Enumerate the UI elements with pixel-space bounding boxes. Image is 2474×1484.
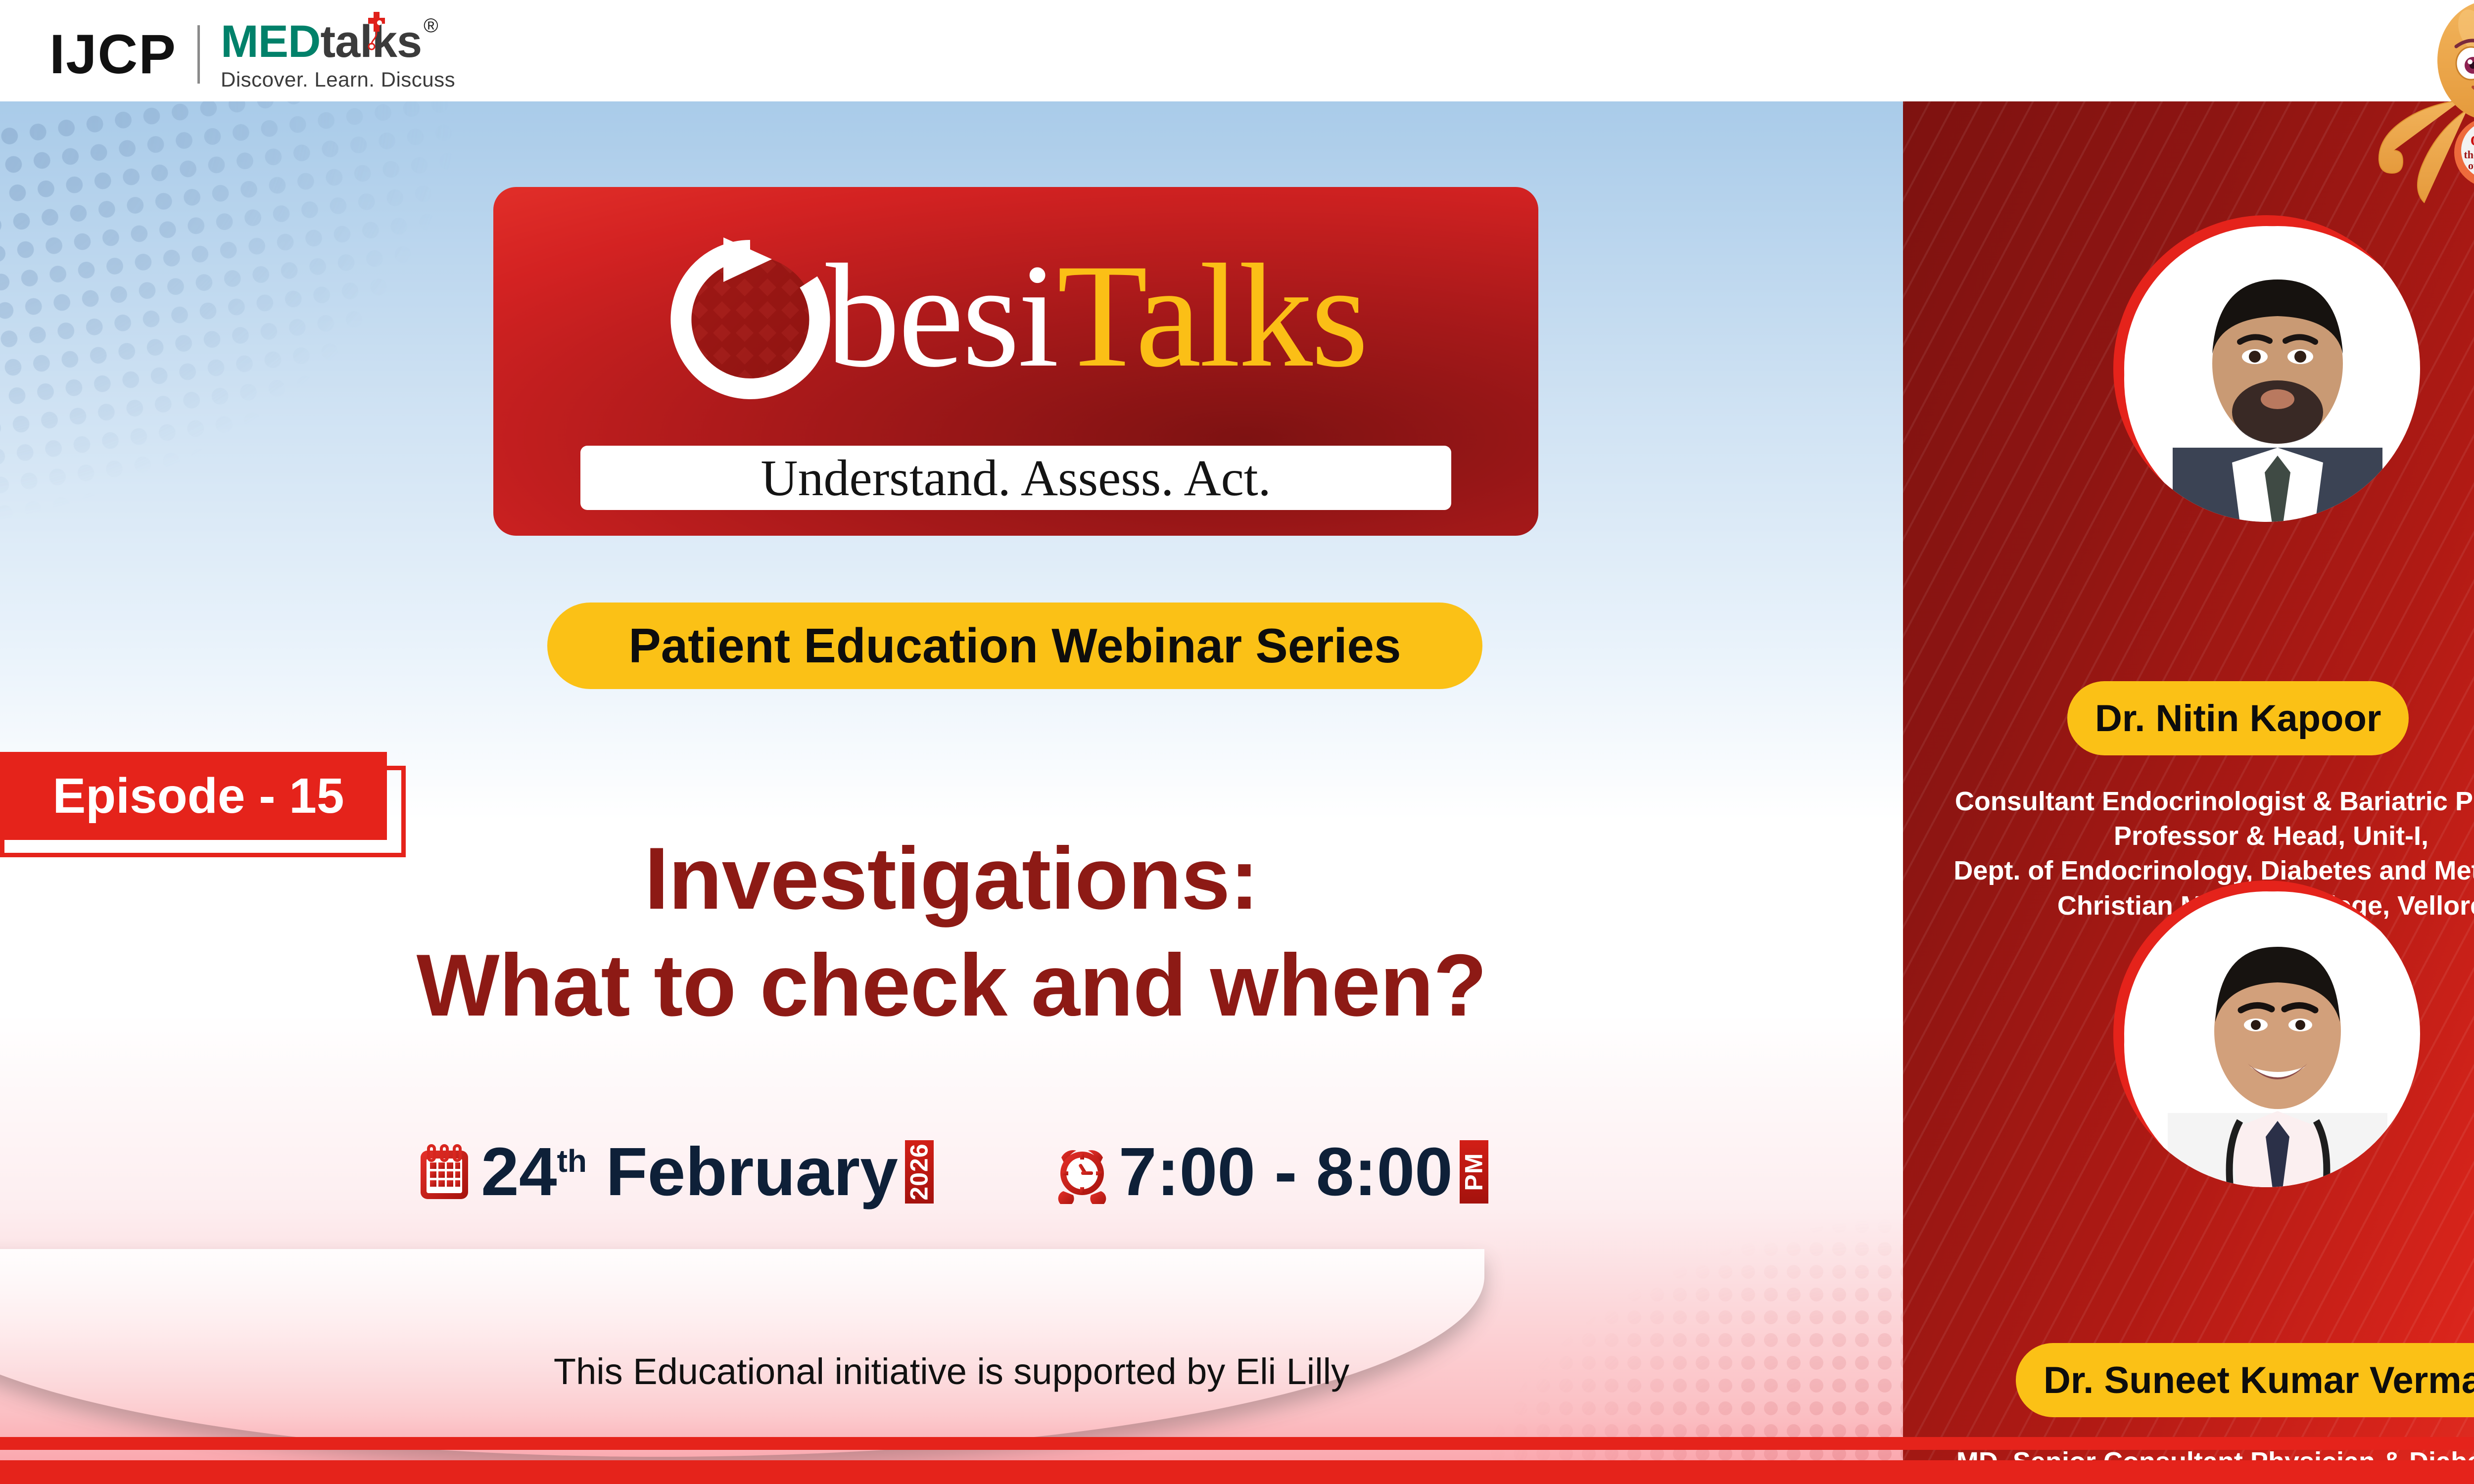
series-badge-label: Patient Education Webinar Series	[628, 618, 1401, 674]
medical-cross-icon	[367, 12, 386, 50]
date-group: 24th February 2026	[415, 1138, 934, 1206]
speaker-name-1: Dr. Nitin Kapoor	[2095, 697, 2381, 740]
date-text: 24th February	[481, 1138, 898, 1206]
time-group: 7:00 - 8:00 PM	[1052, 1138, 1488, 1206]
year-label: 2026	[905, 1143, 934, 1200]
logo-word-talks: Talks	[1057, 241, 1367, 390]
webinar-poster: IJCP MED talks ® Discover. Learn. Discus…	[0, 0, 2474, 1484]
date-day: 24	[481, 1134, 557, 1210]
year-tab: 2026	[905, 1140, 934, 1204]
bottom-thick-bar	[0, 1460, 2474, 1484]
episode-tag-box: Episode - 15	[0, 752, 387, 840]
meridiem-tab: PM	[1460, 1140, 1488, 1204]
time-text: 7:00 - 8:00	[1119, 1138, 1453, 1206]
calendar-icon	[415, 1140, 474, 1204]
logo-tagline-bar: Understand. Assess. Act.	[580, 446, 1451, 510]
medtalks-logo: MED talks ® Discover. Learn. Discuss	[221, 19, 455, 90]
mascot-badge-name: Omnie	[2471, 133, 2474, 149]
mascot-badge-sub2: of Obesity	[2468, 159, 2474, 172]
speaker-name-pill-1: Dr. Nitin Kapoor	[2067, 681, 2409, 755]
title-line-2: What to check and when?	[0, 938, 1903, 1033]
bottom-thin-bar	[0, 1437, 2474, 1450]
date-ordinal-suffix: th	[557, 1143, 587, 1179]
logo-word-obesi: besi	[826, 241, 1057, 390]
logo-tagline-text: Understand. Assess. Act.	[761, 449, 1271, 508]
schedule-row: 24th February 2026	[0, 1138, 1903, 1206]
speaker-photo-2	[2113, 881, 2420, 1187]
octopus-mascot: Omnie the Octopus of Obesity	[2343, 0, 2474, 204]
ijcp-logo-text: IJCP	[49, 27, 177, 82]
title-line-1: Investigations:	[0, 831, 1903, 926]
speaker-photo-1	[2113, 215, 2420, 522]
circular-arrow-icon	[665, 231, 836, 401]
meridiem-label: PM	[1460, 1153, 1488, 1191]
alarm-clock-icon	[1052, 1140, 1112, 1204]
speaker-name-2: Dr. Suneet Kumar Verma	[2044, 1359, 2474, 1402]
registered-mark: ®	[424, 16, 438, 36]
episode-tag-label: Episode - 15	[23, 768, 344, 825]
support-line: This Educational initiative is supported…	[0, 1350, 1903, 1392]
medtalks-tagline: Discover. Learn. Discuss	[221, 69, 455, 90]
speakers-panel: Dr. Nitin Kapoor Consultant Endocrinolog…	[1903, 101, 2474, 1484]
series-badge: Patient Education Webinar Series	[547, 603, 1482, 689]
medtalks-med-text: MED	[221, 19, 320, 64]
page-header: IJCP MED talks ® Discover. Learn. Discus…	[0, 0, 2474, 101]
speaker-name-pill-2: Dr. Suneet Kumar Verma	[2016, 1343, 2474, 1417]
page-title: Investigations: What to check and when?	[0, 831, 1903, 1033]
date-month: February	[606, 1134, 898, 1210]
brand-logo-group: IJCP MED talks ® Discover. Learn. Discus…	[49, 19, 455, 90]
logo-divider	[197, 25, 200, 84]
obesitalks-logo-card: besi Talks Understand. Assess. Act.	[493, 187, 1538, 536]
